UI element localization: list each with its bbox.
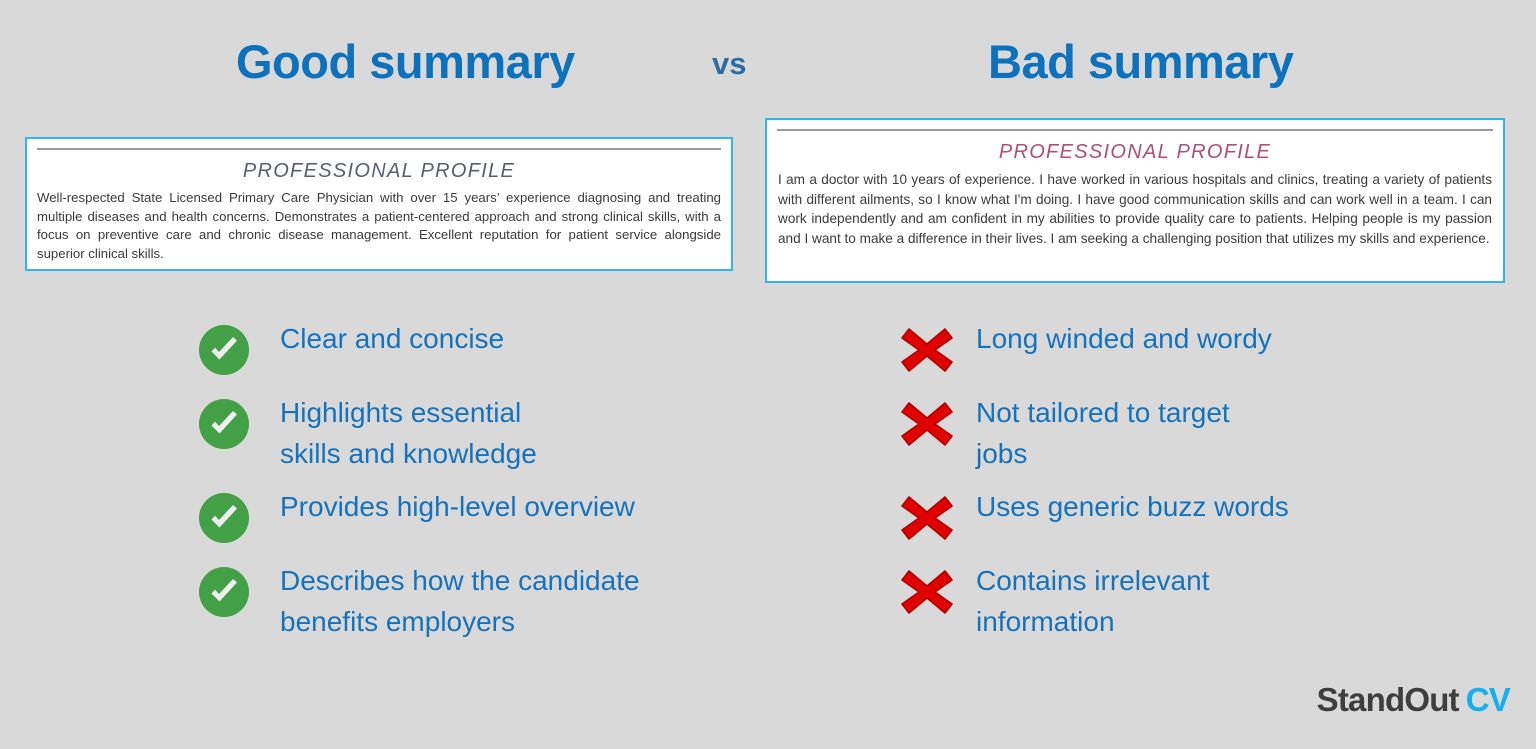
list-item: Long winded and wordy [898, 318, 1478, 380]
bad-summary-card: PROFESSIONAL PROFILE I am a doctor with … [765, 118, 1505, 283]
good-points-list: Clear and concise Highlights essential s… [198, 318, 758, 654]
list-item: Not tailored to target jobs [898, 392, 1478, 474]
list-item: Highlights essential skills and knowledg… [198, 392, 758, 474]
bad-points-list: Long winded and wordy Not tailored to ta… [898, 318, 1478, 654]
list-item: Uses generic buzz words [898, 486, 1478, 548]
page-title-good: Good summary [236, 34, 575, 89]
cross-mark-icon [898, 566, 958, 618]
cross-mark-icon [898, 492, 958, 544]
list-item: Contains irrelevant information [898, 560, 1478, 642]
good-profile-body: Well-respected State Licensed Primary Ca… [37, 189, 721, 263]
list-item-label: Clear and concise [254, 318, 504, 359]
list-item-label: Long winded and wordy [958, 318, 1272, 359]
list-item: Provides high-level overview [198, 486, 758, 548]
list-item-label: Uses generic buzz words [958, 486, 1289, 527]
logo-primary-text: StandOut [1317, 681, 1459, 718]
list-item-label: Describes how the candidate benefits emp… [254, 560, 640, 642]
list-item-label: Not tailored to target jobs [958, 392, 1230, 474]
list-item: Describes how the candidate benefits emp… [198, 560, 758, 642]
cross-mark-icon [898, 398, 958, 450]
check-circle-icon [198, 324, 254, 376]
list-item-label: Highlights essential skills and knowledg… [254, 392, 537, 474]
card-divider-rule [37, 148, 721, 150]
list-item-label: Provides high-level overview [254, 486, 635, 527]
versus-label: vs [712, 46, 746, 82]
list-item-label: Contains irrelevant information [958, 560, 1209, 642]
list-item: Clear and concise [198, 318, 758, 380]
card-divider-rule [777, 129, 1493, 131]
headings-row: Good summary vs Bad summary [0, 34, 1536, 104]
check-circle-icon [198, 566, 254, 618]
standout-cv-logo[interactable]: StandOutCV [1317, 681, 1510, 719]
good-summary-card: PROFESSIONAL PROFILE Well-respected Stat… [25, 137, 733, 271]
cross-mark-icon [898, 324, 958, 376]
bad-profile-heading: PROFESSIONAL PROFILE [767, 141, 1503, 164]
bad-profile-body: I am a doctor with 10 years of experienc… [778, 170, 1492, 248]
page-title-bad: Bad summary [988, 34, 1293, 89]
check-circle-icon [198, 398, 254, 450]
check-circle-icon [198, 492, 254, 544]
logo-accent-text: CV [1466, 681, 1510, 718]
good-profile-heading: PROFESSIONAL PROFILE [27, 160, 731, 183]
